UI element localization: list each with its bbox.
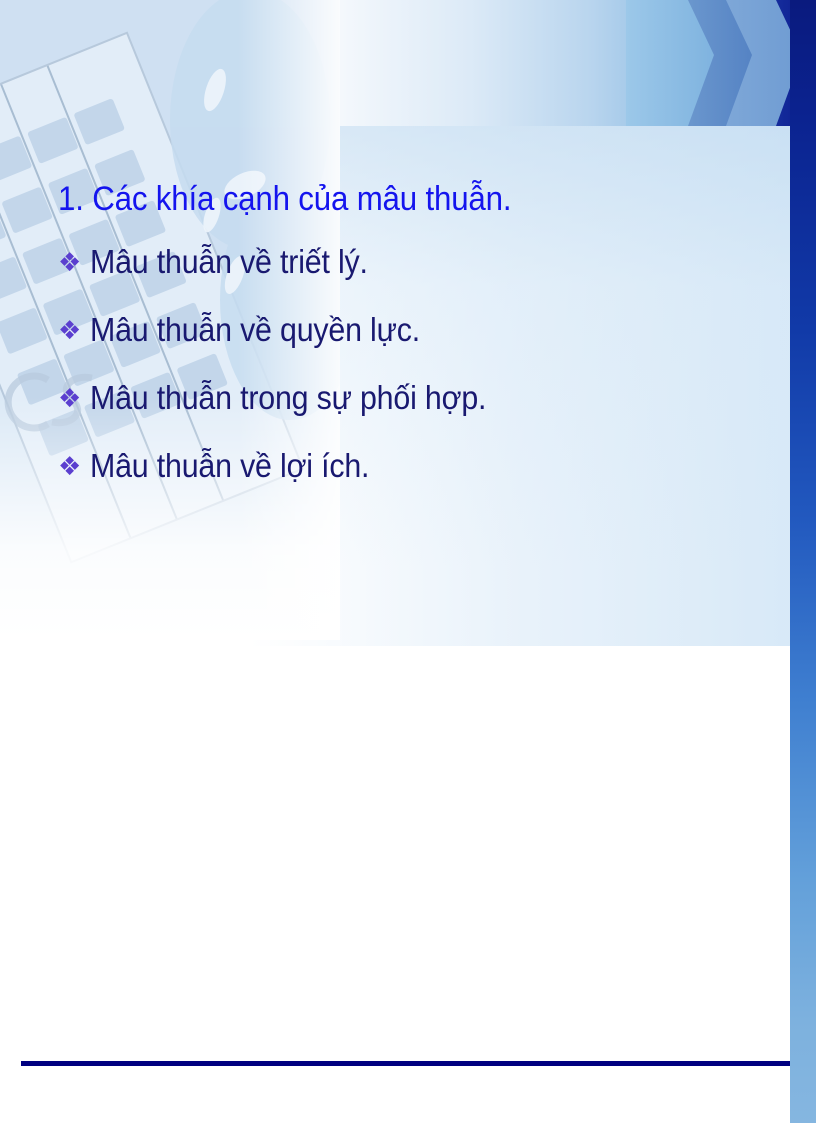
diamond-bullet-icon: ❖ bbox=[58, 310, 90, 350]
page-title: 1. Các khía cạnh của mâu thuẫn. bbox=[58, 178, 702, 220]
list-item-label: Mâu thuẫn về lợi ích. bbox=[90, 446, 369, 486]
chevron-stack bbox=[626, 0, 816, 126]
list-item: ❖ Mâu thuẫn về triết lý. bbox=[58, 242, 758, 282]
diamond-bullet-icon: ❖ bbox=[58, 378, 90, 418]
bullet-list: ❖ Mâu thuẫn về triết lý. ❖ Mâu thuẫn về … bbox=[58, 242, 758, 486]
list-item-label: Mâu thuẫn về triết lý. bbox=[90, 242, 368, 282]
right-navy-rail bbox=[790, 0, 816, 1123]
list-item: ❖ Mâu thuẫn trong sự phối hợp. bbox=[58, 378, 758, 418]
diamond-bullet-icon: ❖ bbox=[58, 242, 90, 282]
list-item-label: Mâu thuẫn trong sự phối hợp. bbox=[90, 378, 486, 418]
diamond-bullet-icon: ❖ bbox=[58, 446, 90, 486]
slide-text-block: 1. Các khía cạnh của mâu thuẫn. ❖ Mâu th… bbox=[58, 178, 758, 486]
list-item-label: Mâu thuẫn về quyền lực. bbox=[90, 310, 420, 350]
header-band bbox=[0, 0, 816, 126]
bottom-divider-rule bbox=[21, 1061, 790, 1066]
list-item: ❖ Mâu thuẫn về quyền lực. bbox=[58, 310, 758, 350]
presentation-slide: 1. Các khía cạnh của mâu thuẫn. ❖ Mâu th… bbox=[0, 0, 816, 1123]
list-item: ❖ Mâu thuẫn về lợi ích. bbox=[58, 446, 758, 486]
